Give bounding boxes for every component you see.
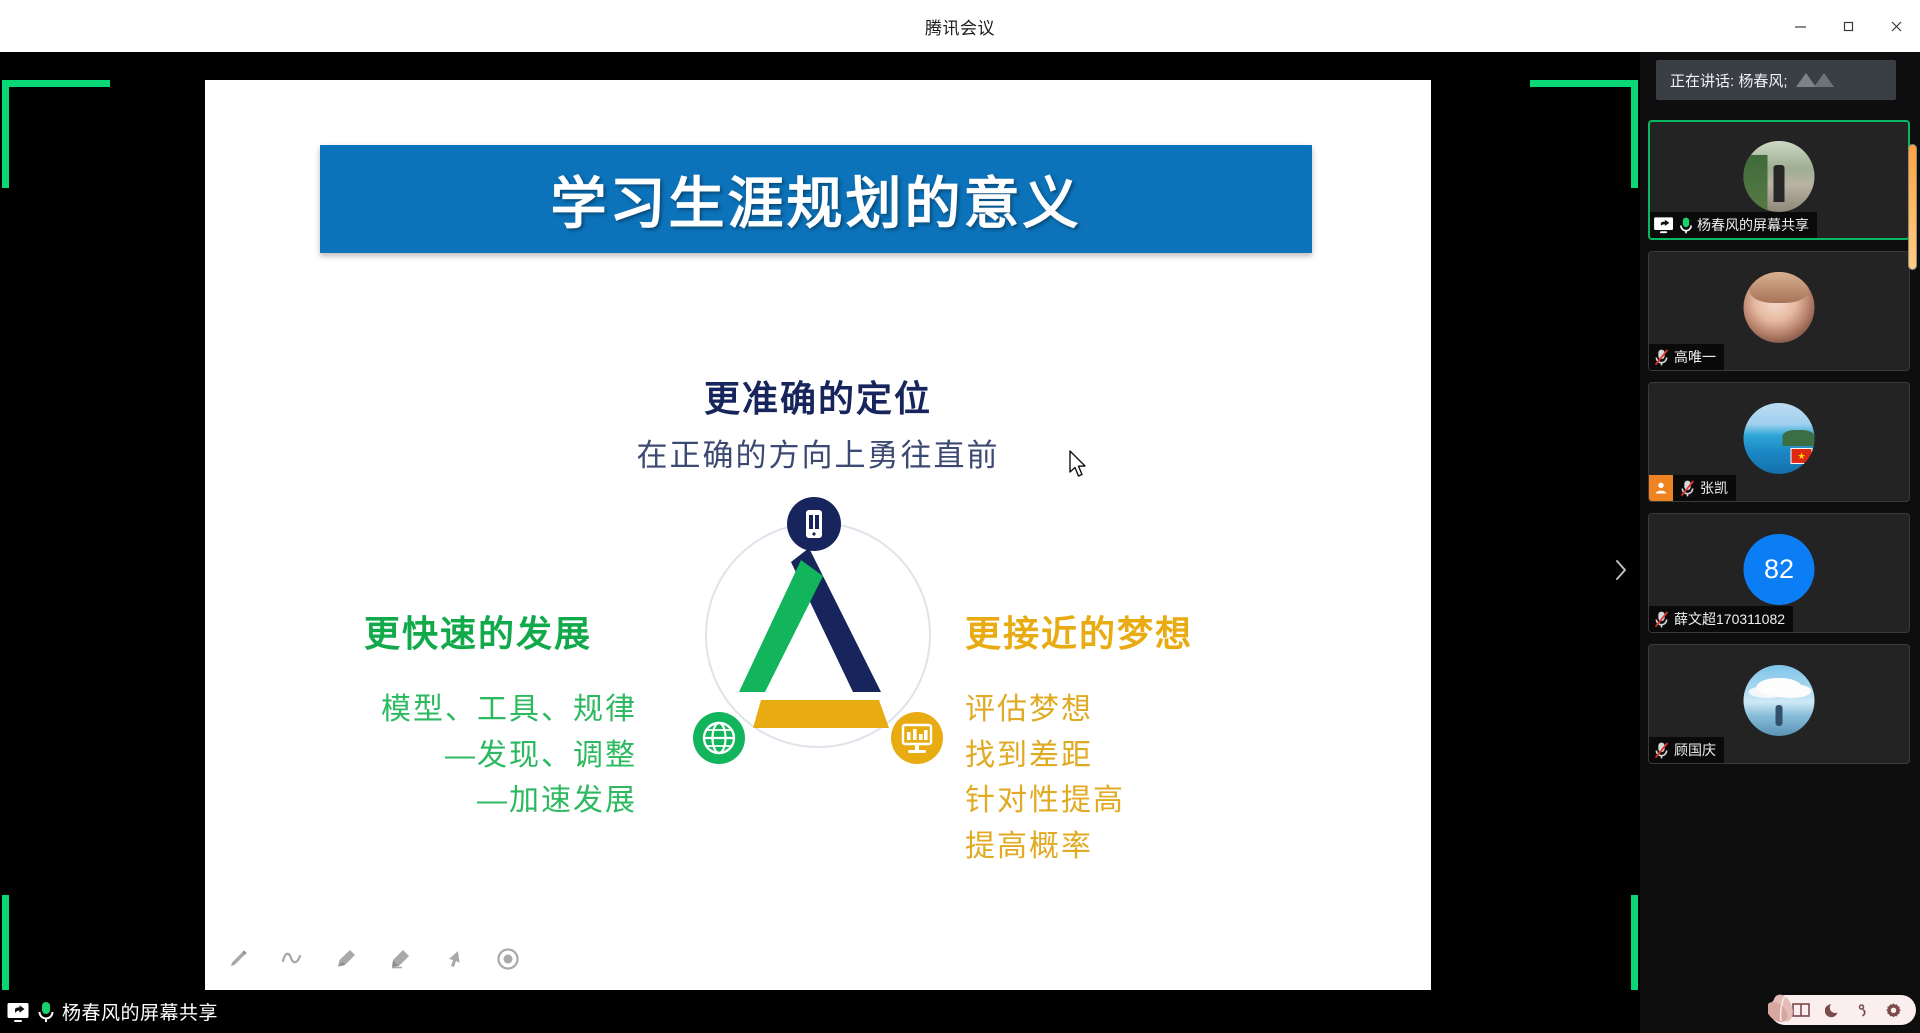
left-column-line: —加速发展 bbox=[313, 778, 643, 824]
window-controls bbox=[1776, 0, 1920, 52]
participant-nameplate: 张凯 bbox=[1649, 475, 1736, 501]
left-column-line: 模型、工具、规律 bbox=[313, 687, 643, 733]
screen-share-icon bbox=[6, 1001, 30, 1023]
chevron-right-icon bbox=[1614, 559, 1628, 581]
microphone-icon bbox=[36, 1000, 56, 1024]
participant-nameplate: 顾国庆 bbox=[1649, 737, 1724, 763]
gear-icon bbox=[1885, 1002, 1902, 1019]
slide-title-banner: 学习生涯规划的意义 bbox=[320, 145, 1312, 253]
participant-name: 顾国庆 bbox=[1674, 740, 1716, 760]
host-badge bbox=[1649, 475, 1673, 501]
maximize-button[interactable] bbox=[1824, 0, 1872, 52]
collapse-panel-button[interactable] bbox=[1608, 547, 1634, 593]
participant-nameplate: 薛文超170311082 bbox=[1649, 606, 1793, 632]
window-title: 腾讯会议 bbox=[925, 14, 995, 39]
minimize-button[interactable] bbox=[1776, 0, 1824, 52]
participant-name: 薛文超170311082 bbox=[1674, 609, 1785, 629]
annotation-line-button[interactable] bbox=[269, 936, 315, 982]
moon-icon bbox=[1825, 1002, 1841, 1018]
microphone-muted-icon bbox=[1652, 610, 1671, 629]
avatar bbox=[1744, 141, 1815, 212]
avatar-initials: 82 bbox=[1744, 534, 1815, 605]
share-status-label: 杨春风的屏幕共享 bbox=[62, 998, 218, 1025]
host-person-icon bbox=[1654, 481, 1668, 495]
pencil-icon bbox=[225, 946, 251, 972]
annotation-pointer-button[interactable] bbox=[431, 936, 477, 982]
speaking-waveform-icon bbox=[1794, 69, 1854, 91]
participant-nameplate: 高唯一 bbox=[1649, 344, 1724, 370]
slide-column-right: 更接近的梦想 评估梦想 找到差距 针对性提高 提高概率 bbox=[965, 605, 1295, 869]
left-column-line: —发现、调整 bbox=[313, 733, 643, 779]
presentation-slide: 学习生涯规划的意义 更准确的定位 在正确的方向上勇往直前 bbox=[205, 80, 1431, 996]
right-column-line: 针对性提高 bbox=[965, 778, 1295, 824]
leaf-logo-icon[interactable] bbox=[1768, 993, 1802, 1025]
moon-button[interactable] bbox=[1825, 1002, 1841, 1018]
microphone-muted-icon bbox=[1652, 348, 1671, 367]
participant-nameplate: 杨春风的屏幕共享 bbox=[1650, 212, 1817, 238]
right-column-line: 找到差距 bbox=[965, 733, 1295, 779]
cursor-arrow-icon bbox=[1068, 450, 1090, 480]
active-speaker-indicator: 正在讲话: 杨春风; bbox=[1656, 60, 1896, 100]
mouse-cursor bbox=[1068, 450, 1090, 480]
droplet-icon bbox=[1856, 1002, 1870, 1018]
floating-utility-toolbar bbox=[1770, 993, 1916, 1027]
close-icon bbox=[1890, 20, 1903, 33]
participant-tile-list: 杨春风的屏幕共享 高唯一 ★ bbox=[1640, 120, 1920, 1013]
participant-tile[interactable]: 顾国庆 bbox=[1648, 644, 1910, 764]
app-root: 腾讯会议 bbox=[0, 0, 1920, 1033]
screen-share-stage: 学习生涯规划的意义 更准确的定位 在正确的方向上勇往直前 bbox=[0, 52, 1640, 1033]
microphone-muted-icon bbox=[1678, 479, 1697, 498]
avatar: ★ bbox=[1744, 403, 1815, 474]
share-border-corner-top-right bbox=[1530, 80, 1638, 188]
triangle-diagram-graphic bbox=[683, 480, 953, 770]
participant-tile[interactable]: 82 薛文超170311082 bbox=[1648, 513, 1910, 633]
highlighter-icon bbox=[333, 946, 359, 972]
microphone-icon bbox=[1678, 216, 1694, 235]
avatar bbox=[1744, 272, 1815, 343]
participant-panel: 正在讲话: 杨春风; bbox=[1640, 52, 1920, 1033]
maximize-icon bbox=[1842, 20, 1855, 33]
participant-tile[interactable]: 杨春风的屏幕共享 bbox=[1648, 120, 1910, 240]
pointer-icon bbox=[441, 946, 467, 972]
eraser-icon bbox=[387, 946, 413, 972]
close-button[interactable] bbox=[1872, 0, 1920, 52]
participant-panel-scrollbar[interactable] bbox=[1908, 144, 1917, 270]
share-status-banner: 杨春风的屏幕共享 bbox=[0, 990, 1640, 1033]
participant-name: 高唯一 bbox=[1674, 347, 1716, 367]
line-icon bbox=[279, 946, 305, 972]
active-speaker-label: 正在讲话: 杨春风; bbox=[1670, 70, 1788, 91]
right-column-line: 提高概率 bbox=[965, 824, 1295, 870]
screen-share-icon bbox=[1653, 216, 1675, 234]
slide-heading-main: 更准确的定位 bbox=[205, 370, 1431, 422]
annotation-eraser-button[interactable] bbox=[377, 936, 423, 982]
participant-tile[interactable]: 高唯一 bbox=[1648, 251, 1910, 371]
droplet-button[interactable] bbox=[1856, 1002, 1870, 1018]
left-column-title: 更快速的发展 bbox=[313, 605, 643, 657]
slide-title: 学习生涯规划的意义 bbox=[551, 159, 1082, 240]
flag-badge: ★ bbox=[1791, 448, 1813, 464]
minimize-icon bbox=[1794, 20, 1807, 33]
settings-button[interactable] bbox=[1885, 1002, 1902, 1019]
participant-name: 杨春风的屏幕共享 bbox=[1697, 215, 1809, 235]
share-border-corner-bottom-right bbox=[1530, 895, 1638, 1003]
annotation-laser-button[interactable] bbox=[485, 936, 531, 982]
laser-icon bbox=[495, 946, 521, 972]
share-border-corner-top-left bbox=[2, 80, 110, 188]
annotation-toolbar bbox=[215, 936, 531, 982]
slide-column-left: 更快速的发展 模型、工具、规律 —发现、调整 —加速发展 bbox=[313, 605, 643, 824]
triangle-diagram bbox=[683, 480, 953, 770]
participant-name: 张凯 bbox=[1700, 478, 1728, 498]
right-column-line: 评估梦想 bbox=[965, 687, 1295, 733]
right-column-title: 更接近的梦想 bbox=[965, 605, 1295, 657]
slide-heading-sub: 在正确的方向上勇往直前 bbox=[205, 430, 1431, 475]
avatar bbox=[1744, 665, 1815, 736]
share-border-corner-bottom-left bbox=[2, 895, 110, 1003]
annotation-pencil-button[interactable] bbox=[215, 936, 261, 982]
participant-tile[interactable]: ★ 张凯 bbox=[1648, 382, 1910, 502]
microphone-muted-icon bbox=[1652, 741, 1671, 760]
annotation-highlighter-button[interactable] bbox=[323, 936, 369, 982]
window-title-bar: 腾讯会议 bbox=[0, 0, 1920, 52]
